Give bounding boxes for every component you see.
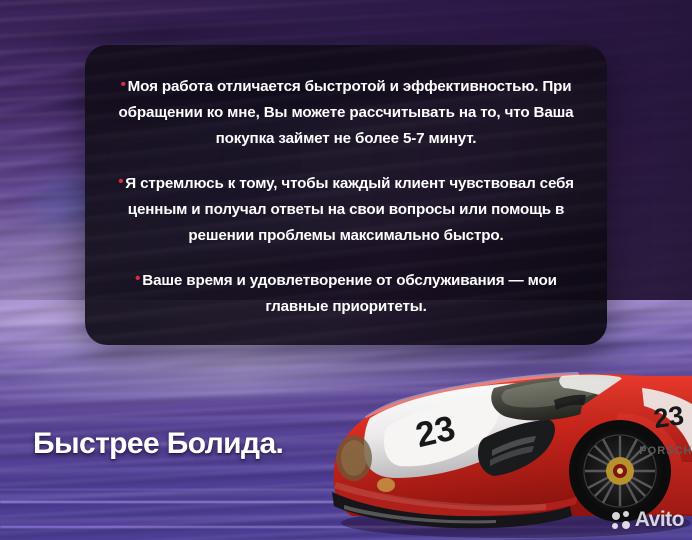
benefit-paragraph-3-text: Ваше время и удовлетворение от обслужива…: [142, 272, 557, 315]
benefit-paragraph-1-text: Моя работа отличается быстротой и эффект…: [119, 78, 574, 147]
bullet-dot-icon: •: [121, 76, 126, 93]
bullet-dot-icon: •: [118, 173, 123, 190]
car-rear-wheel: [569, 420, 671, 522]
avito-dots-logo-icon: [612, 511, 631, 530]
avito-watermark-label: Avito: [635, 508, 684, 532]
benefit-paragraph-2: •Я стремлюсь к тому, чтобы каждый клиент…: [103, 171, 589, 249]
avito-watermark: Avito: [612, 508, 684, 532]
benefit-paragraph-2-text: Я стремлюсь к тому, чтобы каждый клиент …: [125, 175, 574, 244]
benefit-paragraph-3: •Ваше время и удовлетворение от обслужив…: [103, 268, 589, 320]
car-headlight-lens: [341, 440, 367, 476]
benefit-paragraph-1: •Моя работа отличается быстротой и эффек…: [103, 74, 589, 152]
ad-canvas: •Моя работа отличается быстротой и эффек…: [0, 0, 692, 540]
headline-text: Быстрее Болида.: [33, 427, 283, 461]
bullet-dot-icon: •: [135, 270, 140, 287]
car-rear-race-number: 23: [652, 400, 686, 434]
car-brand-text: PORSCHE: [639, 445, 692, 457]
car-brand-crest: [377, 478, 395, 492]
benefits-text-card: •Моя работа отличается быстротой и эффек…: [85, 45, 607, 345]
